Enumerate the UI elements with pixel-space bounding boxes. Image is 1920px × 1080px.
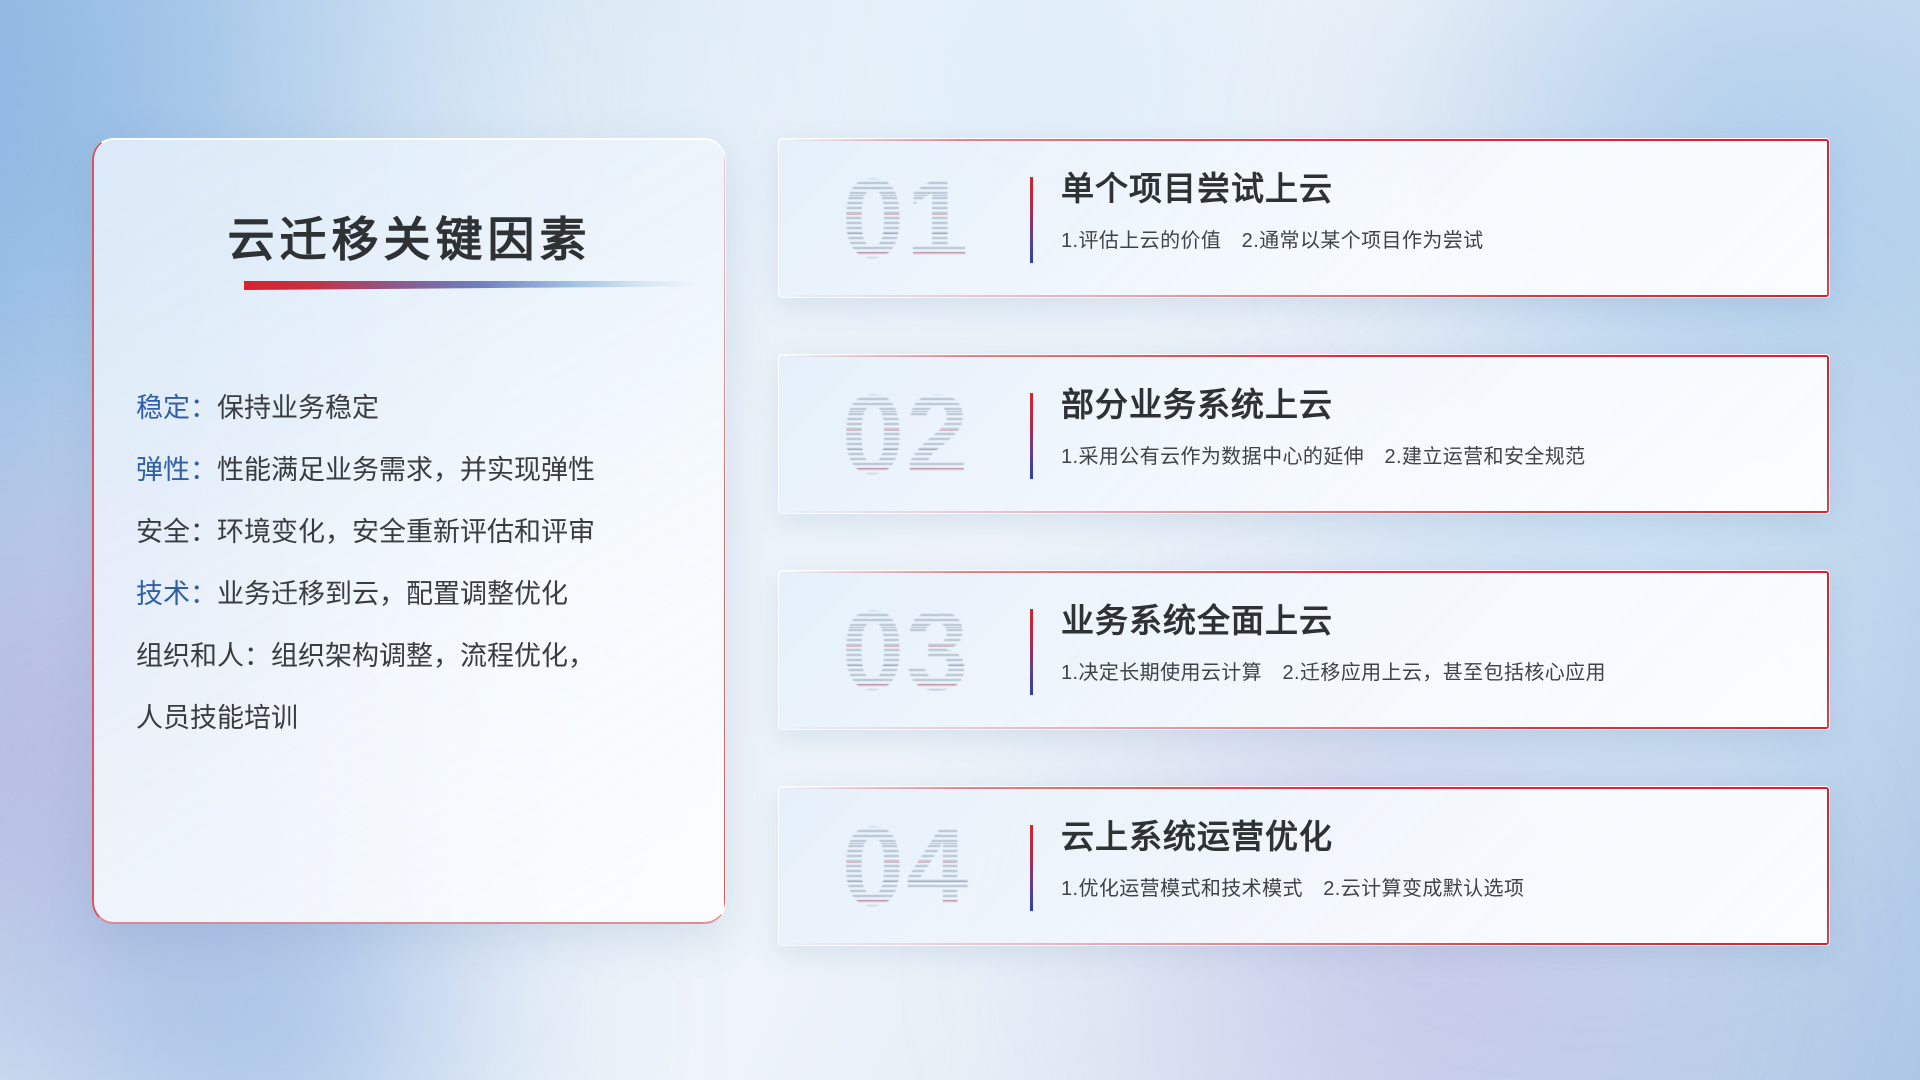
stage-card-body: 单个项目尝试上云1.评估上云的价值 2.通常以某个项目作为尝试 [1061,163,1801,257]
key-factor-row: 人员技能培训 [136,687,695,749]
title-underline-rule [244,281,696,290]
key-factor-text: 环境变化，安全重新评估和评审 [217,517,595,547]
accent-bar [1030,609,1033,695]
key-factor-text: 人员技能培训 [136,703,298,733]
stage-card-description: 1.优化运营模式和技术模式 2.云计算变成默认选项 [1061,873,1801,905]
stage-card-title: 部分业务系统上云 [1061,379,1801,431]
stage-card[interactable]: 0202部分业务系统上云1.采用公有云作为数据中心的延伸 2.建立运营和安全规范 [778,354,1830,514]
stages-card-list: 0101单个项目尝试上云1.评估上云的价值 2.通常以某个项目作为尝试0202部… [778,138,1830,1002]
key-factor-row: 稳定：保持业务稳定 [136,377,695,439]
stage-card-description: 1.采用公有云作为数据中心的延伸 2.建立运营和安全规范 [1061,441,1801,473]
stage-number-ghost-tint: 03 [811,589,1001,713]
key-factor-label: 弹性： [136,455,217,485]
key-factor-label: 稳定： [136,393,217,423]
stage-card[interactable]: 0303业务系统全面上云1.决定长期使用云计算 2.迁移应用上云，甚至包括核心应… [778,570,1830,730]
card-bottom-rule [779,943,1829,945]
stage-number-ghost-tint: 01 [811,157,1001,281]
key-factor-text: 性能满足业务需求，并实现弹性 [217,455,595,485]
key-factors-list: 稳定：保持业务稳定弹性：性能满足业务需求，并实现弹性安全：环境变化，安全重新评估… [136,377,695,749]
key-factor-row: 组织和人：组织架构调整，流程优化， [136,625,695,687]
stage-number-ghost-tint: 02 [811,373,1001,497]
accent-bar [1030,825,1033,911]
key-factor-text: 业务迁移到云，配置调整优化 [217,579,568,609]
card-bottom-rule [779,295,1829,297]
accent-bar [1030,393,1033,479]
card-bottom-rule [779,511,1829,513]
card-bottom-rule [779,727,1829,729]
stage-card-title: 业务系统全面上云 [1061,595,1801,647]
slide-stage: 云迁移关键因素 稳定：保持业务稳定弹性：性能满足业务需求，并实现弹性安全：环境变… [0,0,1920,1080]
key-factor-label: 组织和人： [136,641,271,671]
key-factors-panel: 云迁移关键因素 稳定：保持业务稳定弹性：性能满足业务需求，并实现弹性安全：环境变… [92,138,726,924]
stage-card-title: 单个项目尝试上云 [1061,163,1801,215]
accent-bar [1030,177,1033,263]
page-title: 云迁移关键因素 [94,201,725,270]
key-factor-row: 技术：业务迁移到云，配置调整优化 [136,563,695,625]
key-factor-text: 保持业务稳定 [217,393,379,423]
stage-card-description: 1.评估上云的价值 2.通常以某个项目作为尝试 [1061,225,1801,257]
stage-card-body: 业务系统全面上云1.决定长期使用云计算 2.迁移应用上云，甚至包括核心应用 [1061,595,1801,689]
stage-card-body: 云上系统运营优化1.优化运营模式和技术模式 2.云计算变成默认选项 [1061,811,1801,905]
stage-number-ghost-tint: 04 [811,805,1001,929]
key-factor-row: 弹性：性能满足业务需求，并实现弹性 [136,439,695,501]
key-factor-text: 组织架构调整，流程优化， [271,641,595,671]
key-factor-label: 安全： [136,517,217,547]
key-factor-row: 安全：环境变化，安全重新评估和评审 [136,501,695,563]
stage-card[interactable]: 0404云上系统运营优化1.优化运营模式和技术模式 2.云计算变成默认选项 [778,786,1830,946]
stage-card-body: 部分业务系统上云1.采用公有云作为数据中心的延伸 2.建立运营和安全规范 [1061,379,1801,473]
stage-card[interactable]: 0101单个项目尝试上云1.评估上云的价值 2.通常以某个项目作为尝试 [778,138,1830,298]
stage-card-title: 云上系统运营优化 [1061,811,1801,863]
key-factor-label: 技术： [136,579,217,609]
stage-card-description: 1.决定长期使用云计算 2.迁移应用上云，甚至包括核心应用 [1061,657,1801,689]
